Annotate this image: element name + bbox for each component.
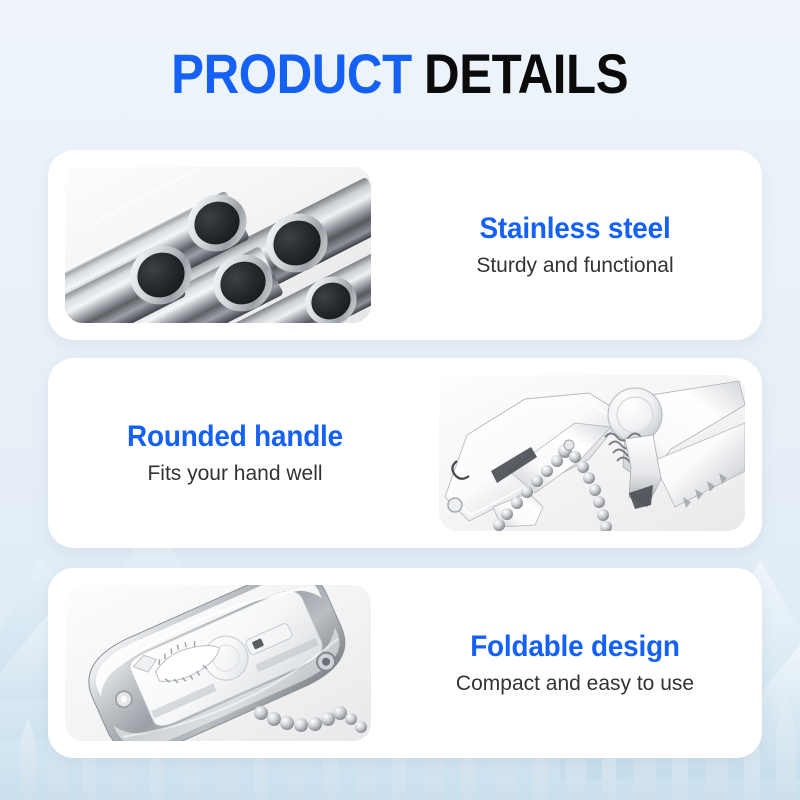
page-title: PRODUCTDETAILS <box>0 44 800 104</box>
feature-card-rounded-handle: Rounded handle Fits your hand well <box>48 358 762 548</box>
title-word-product: PRODUCT <box>172 42 413 105</box>
multitool-pliers-open-photo <box>439 375 745 531</box>
feature-text-2: Rounded handle Fits your hand well <box>48 420 422 487</box>
feature-card-foldable-design: Foldable design Compact and easy to use <box>48 568 762 758</box>
stainless-steel-tubes-photo <box>65 167 371 323</box>
feature-text-1: Stainless steel Sturdy and functional <box>388 212 762 279</box>
feature-headline-2: Rounded handle <box>78 420 392 454</box>
feature-card-stainless-steel: Stainless steel Sturdy and functional <box>48 150 762 340</box>
feature-headline-1: Stainless steel <box>418 212 732 246</box>
multitool-folded-photo <box>65 585 371 741</box>
feature-text-3: Foldable design Compact and easy to use <box>388 630 762 697</box>
title-word-details: DETAILS <box>424 42 628 105</box>
feature-subtitle-1: Sturdy and functional <box>406 253 744 279</box>
feature-headline-3: Foldable design <box>418 630 732 664</box>
feature-subtitle-3: Compact and easy to use <box>406 671 744 697</box>
product-details-page: PRODUCTDETAILS <box>0 0 800 800</box>
feature-subtitle-2: Fits your hand well <box>66 461 404 487</box>
